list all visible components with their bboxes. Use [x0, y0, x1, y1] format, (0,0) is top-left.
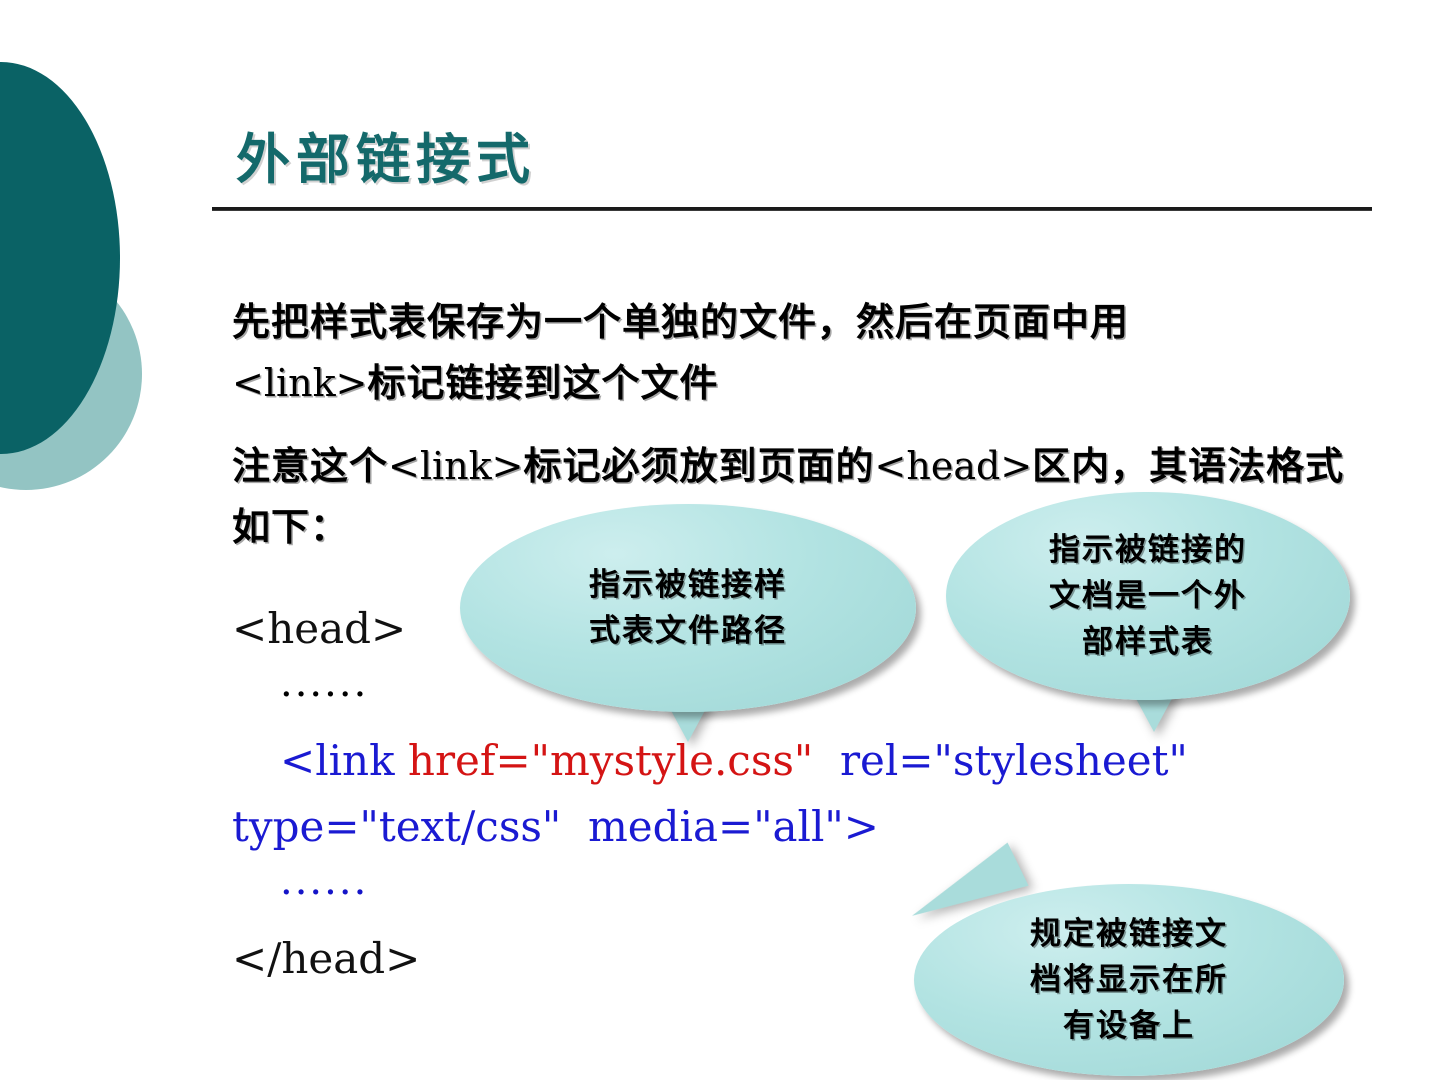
paragraph-intro-line2-rest: 标记链接到这个文件 [368, 361, 719, 405]
slide-canvas: 外部链接式 先把样式表保存为一个单独的文件，然后在页面中用<link>标记链接到… [0, 0, 1440, 1080]
title-divider [212, 207, 1372, 211]
paragraph-note-link-tag: <link> [388, 444, 524, 488]
title-block: 外部链接式 [212, 132, 1372, 211]
paragraph-intro-link-tag: <link> [232, 361, 368, 405]
callout-bubble-rel: 指示被链接的 文档是一个外 部样式表 [946, 492, 1350, 700]
callout-rel-line-2: 文档是一个外 [1049, 573, 1247, 619]
callout-media-text: 规定被链接文 档将显示在所 有设备上 [1002, 911, 1256, 1049]
callout-href-line-2: 式表文件路径 [589, 608, 787, 654]
paragraph-intro: 先把样式表保存为一个单独的文件，然后在页面中用<link>标记链接到这个文件 [232, 292, 1362, 414]
code-link-tag-open: <link [280, 736, 395, 785]
callout-rel-text: 指示被链接的 文档是一个外 部样式表 [1021, 527, 1275, 665]
callout-href-text: 指示被链接样 式表文件路径 [561, 562, 815, 654]
paragraph-intro-line1: 先把样式表保存为一个单独的文件，然后在页面中用 [232, 300, 1129, 344]
code-attr-rel: rel="stylesheet" [813, 736, 1188, 785]
callout-href-line-1: 指示被链接样 [589, 562, 787, 608]
code-line-link-continued: type="text/css" media="all"> [232, 794, 1392, 860]
callout-media-line-3: 有设备上 [1030, 1003, 1228, 1049]
paragraph-note-pre: 注意这个 [232, 444, 388, 488]
page-title: 外部链接式 [212, 132, 1372, 189]
callout-media-line-2: 档将显示在所 [1030, 957, 1228, 1003]
code-attr-href: href="mystyle.css" [395, 736, 814, 785]
callout-bubble-media: 规定被链接文 档将显示在所 有设备上 [914, 884, 1344, 1076]
callout-rel-line-3: 部样式表 [1049, 619, 1247, 665]
code-line-link: <link href="mystyle.css" rel="stylesheet… [232, 728, 1392, 794]
code-attr-media: media="all"> [561, 802, 879, 851]
paragraph-note-head-tag: <head> [875, 444, 1033, 488]
code-attr-type: type="text/css" [232, 802, 561, 851]
paragraph-note-mid: 标记必须放到页面的 [524, 444, 875, 488]
callout-bubble-href: 指示被链接样 式表文件路径 [460, 504, 916, 712]
callout-media-line-1: 规定被链接文 [1030, 911, 1228, 957]
callout-rel-line-1: 指示被链接的 [1049, 527, 1247, 573]
